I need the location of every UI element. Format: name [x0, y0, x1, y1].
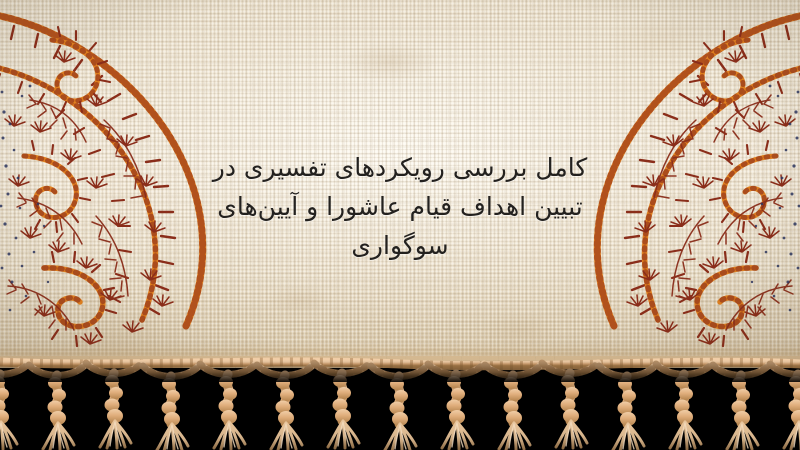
- slide-title: کامل بررسی رویکردهای تفسیری در تبیین اهد…: [150, 148, 650, 265]
- title-line-3: سوگواری: [150, 226, 650, 265]
- title-line-2: تبیین اهداف قیام عاشورا و آیین‌های: [150, 187, 650, 226]
- knotted-rope-tassel-fringe: [0, 352, 800, 450]
- title-line-1: کامل بررسی رویکردهای تفسیری در: [150, 148, 650, 187]
- slide-canvas: کامل بررسی رویکردهای تفسیری در تبیین اهد…: [0, 0, 800, 450]
